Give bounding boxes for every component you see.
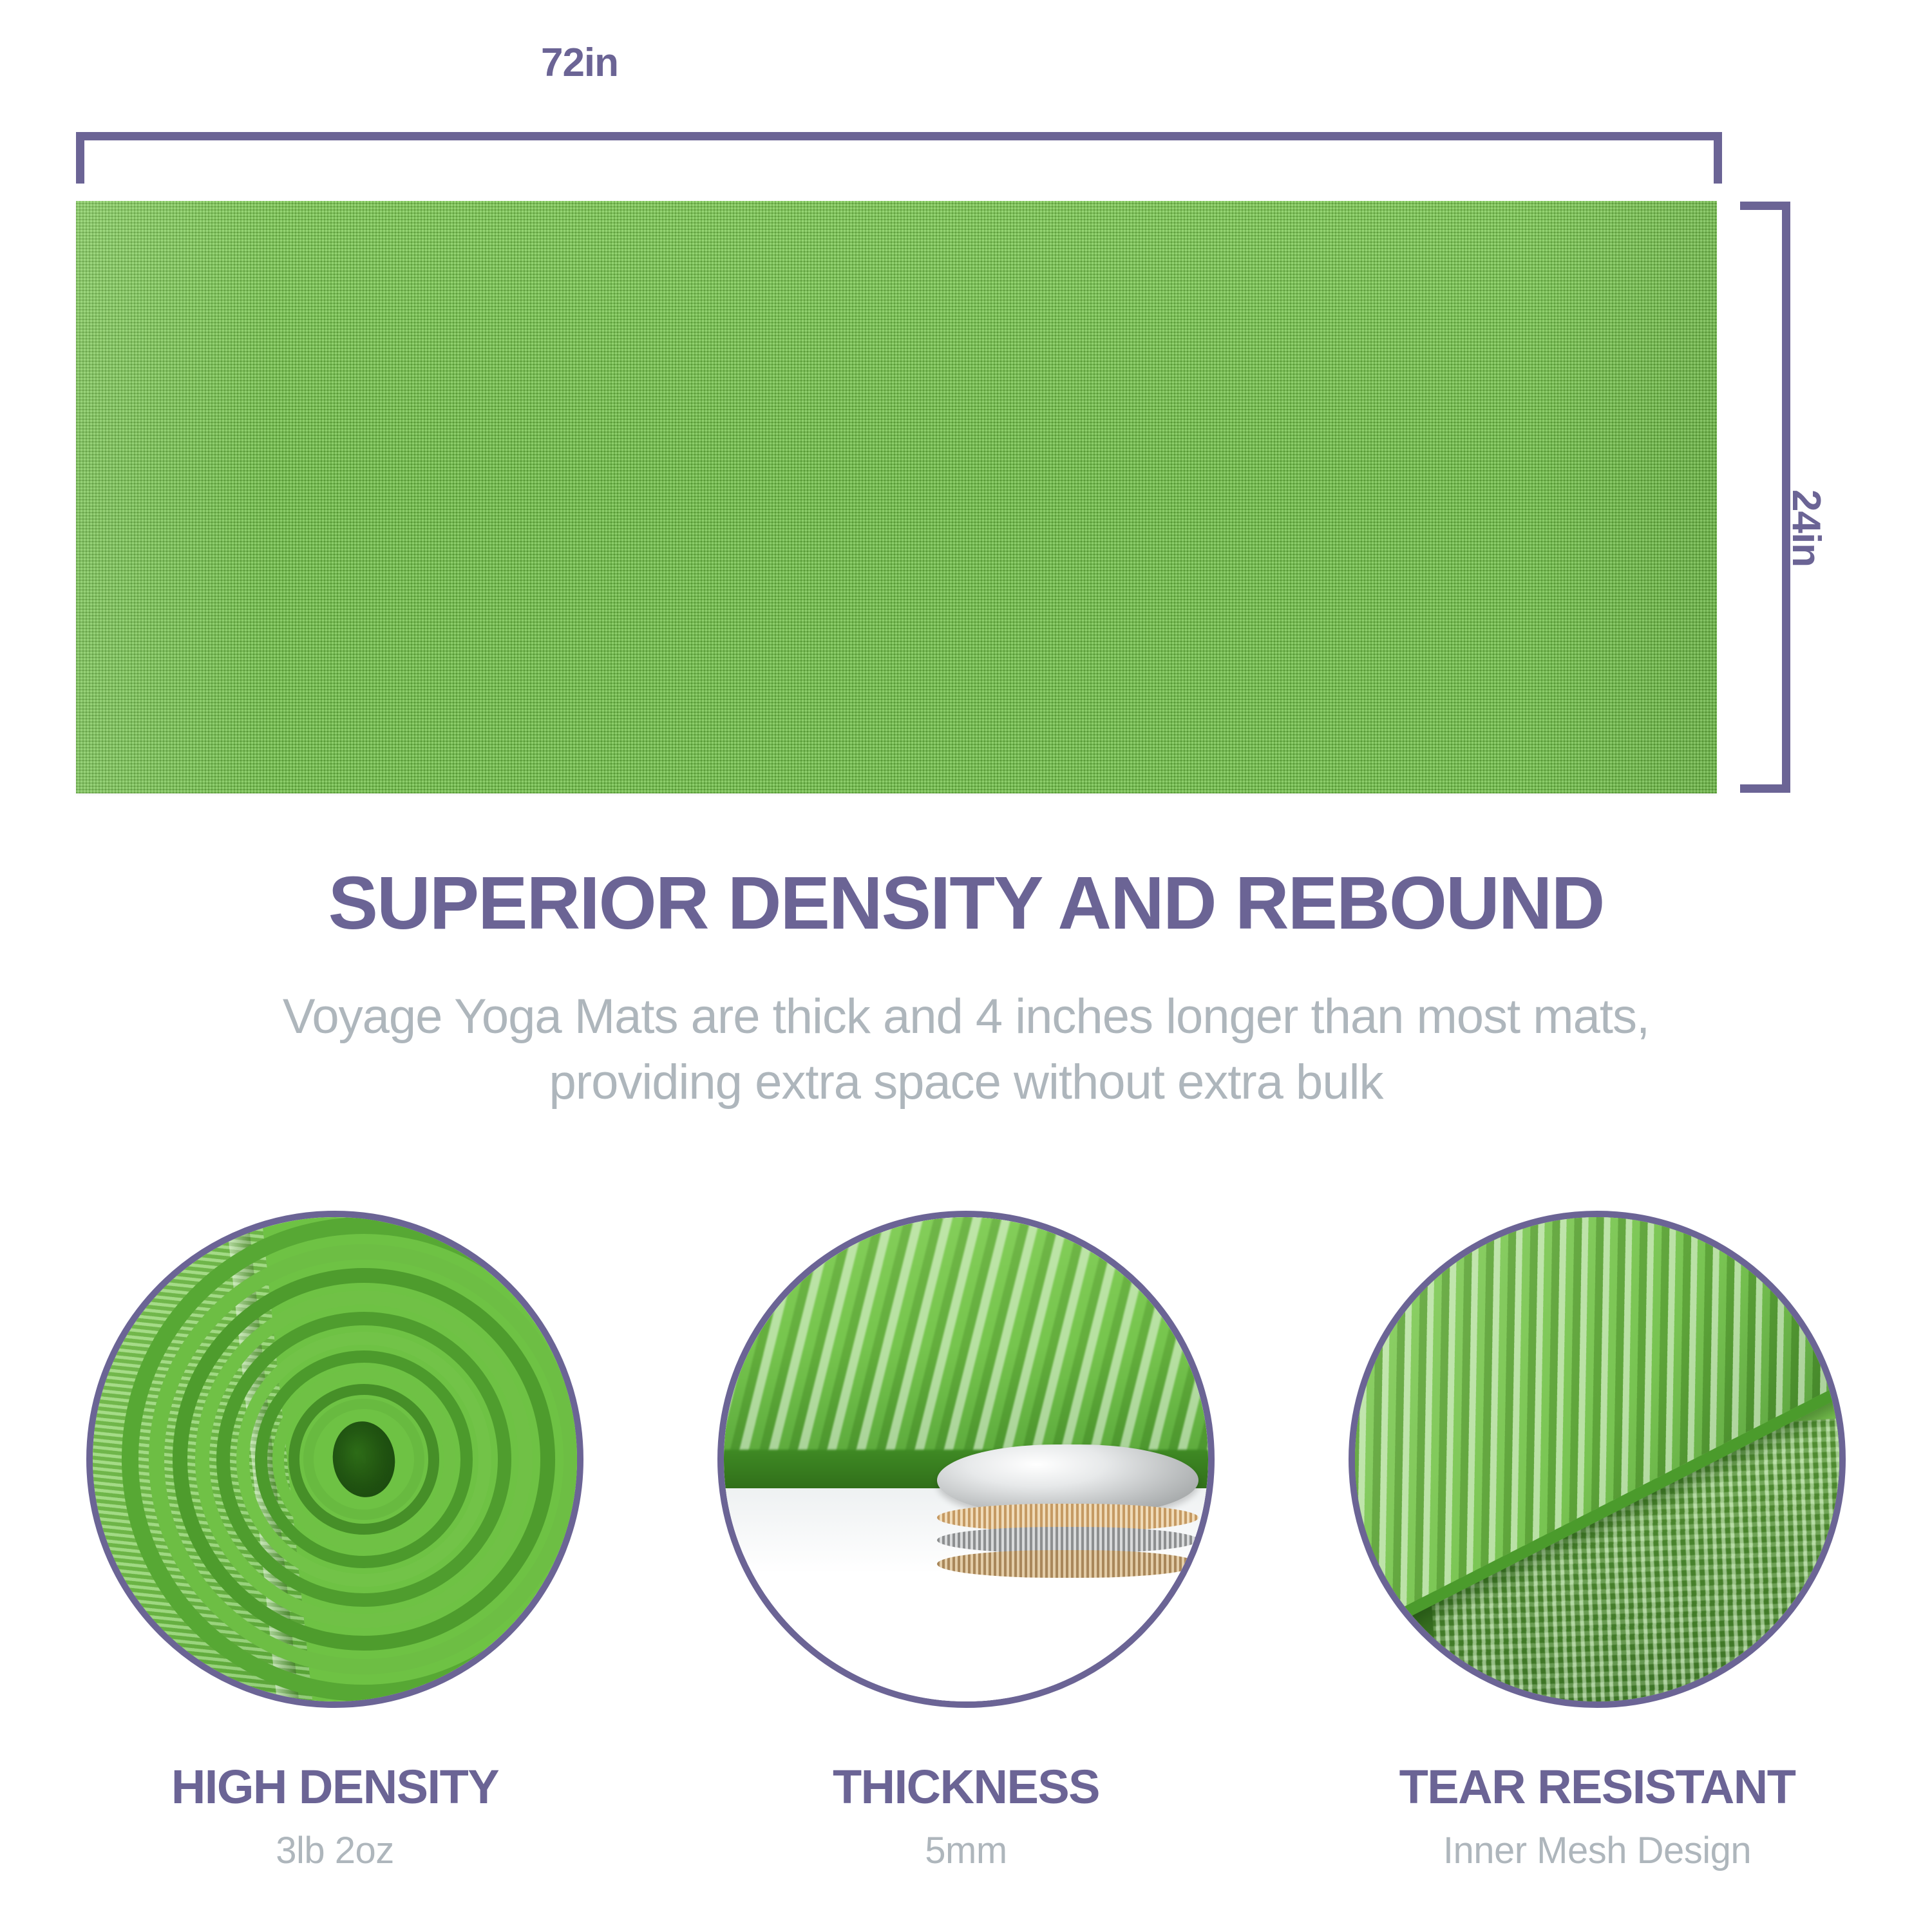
feature-row: HIGH DENSITY 3lb 2oz THICKNESS: [0, 1211, 1932, 1932]
feature-title: HIGH DENSITY: [13, 1762, 657, 1812]
feature-card-thickness: THICKNESS 5mm: [644, 1211, 1288, 1872]
feature-image-coin-comparison: [717, 1211, 1215, 1708]
feature-card-high-density: HIGH DENSITY 3lb 2oz: [13, 1211, 657, 1872]
page-title: SUPERIOR DENSITY AND REBOUND: [0, 864, 1932, 943]
feature-subtitle: Inner Mesh Design: [1275, 1829, 1919, 1872]
feature-subtitle: 5mm: [644, 1829, 1288, 1872]
page-subtitle: Voyage Yoga Mats are thick and 4 inches …: [193, 984, 1739, 1115]
feature-subtitle: 3lb 2oz: [13, 1829, 657, 1872]
feature-title: THICKNESS: [644, 1762, 1288, 1812]
hero-yoga-mat-image: [76, 201, 1717, 793]
width-dimension-label: 72in: [0, 40, 1932, 86]
coin-stack: [937, 1444, 1198, 1600]
height-dimension-label: 24in: [1783, 489, 1829, 567]
width-dimension-value: 72in: [541, 40, 618, 86]
feature-card-tear-resistant: TEAR RESISTANT Inner Mesh Design: [1275, 1211, 1919, 1872]
width-dimension-bracket: [76, 132, 1722, 184]
feature-image-rolled-mat: [86, 1211, 583, 1708]
infographic-canvas: 72in 24in SUPERIOR DENSITY AND REBOUND V…: [0, 0, 1932, 1932]
feature-title: TEAR RESISTANT: [1275, 1762, 1919, 1812]
feature-image-folded-mat: [1349, 1211, 1846, 1708]
